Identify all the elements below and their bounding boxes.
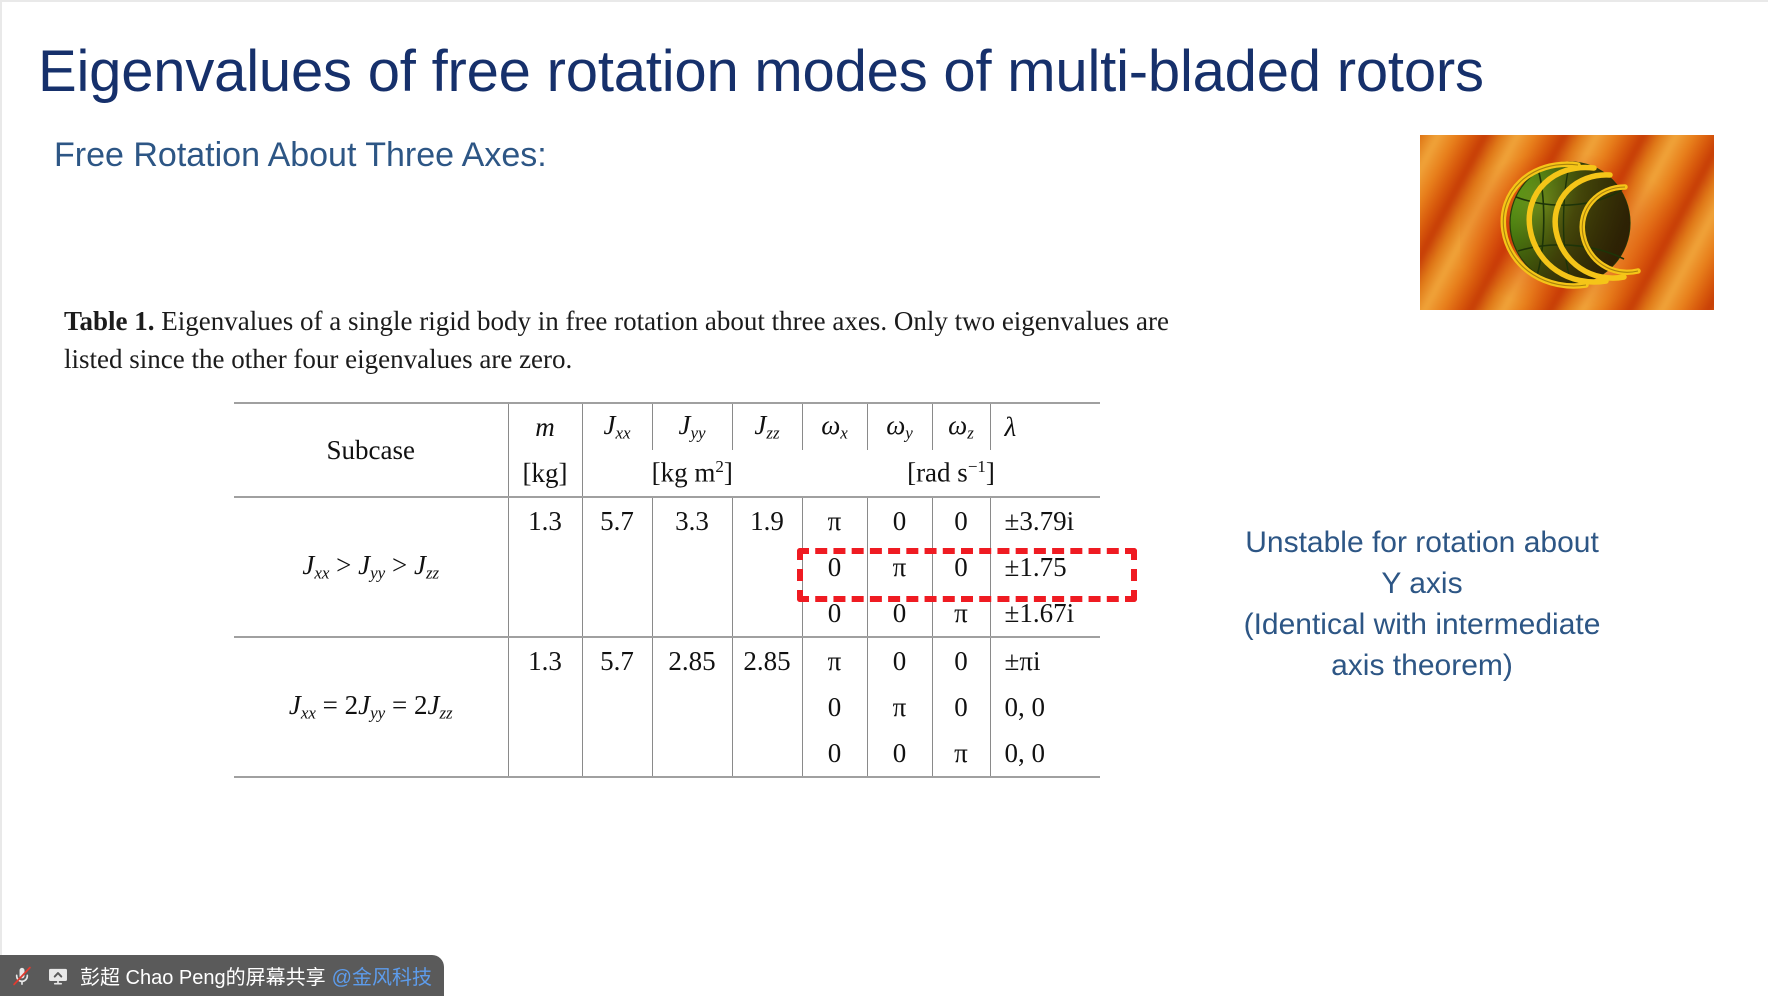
cell-lambda-1-0: ±πi <box>990 637 1100 684</box>
cell-omega-z-0-2: π <box>932 590 990 637</box>
cell-jxx-1: 5.7 <box>582 637 652 777</box>
eigenvalue-table: Subcase m Jxx Jyy Jzz ωx ωy ωz λ [kg] [k… <box>234 402 1100 780</box>
screen-share-bar[interactable]: 彭超 Chao Peng的屏幕共享 @金风科技 <box>0 955 444 996</box>
unit-inertia: [kg m2] <box>582 450 802 497</box>
cell-omega-z-1-1: 0 <box>932 684 990 730</box>
page-title: Eigenvalues of free rotation modes of mu… <box>38 36 1718 108</box>
cell-omega-y-0-2: 0 <box>867 590 932 637</box>
cell-jyy-1: 2.85 <box>652 637 732 777</box>
cell-jxx-0: 5.7 <box>582 497 652 637</box>
cell-omega-x-1-2: 0 <box>802 730 867 777</box>
screen-share-title: 彭超 Chao Peng的屏幕共享 <box>80 961 326 990</box>
col-header-omega-z: ωz <box>932 403 990 450</box>
cell-omega-x-0-1: 0 <box>802 544 867 590</box>
cell-omega-x-1-0: π <box>802 637 867 684</box>
table-row: Jxx > Jyy > Jzz 1.3 5.7 3.3 1.9 π 0 0 ±3… <box>234 497 1100 544</box>
screen-share-org: @金风科技 <box>332 961 432 990</box>
cell-omega-x-0-0: π <box>802 497 867 544</box>
cell-jzz-0: 1.9 <box>732 497 802 637</box>
col-header-omega-y: ωy <box>867 403 932 450</box>
annotation-note: Unstable for rotation about Y axis (Iden… <box>1192 522 1652 686</box>
col-header-jzz: Jzz <box>732 403 802 450</box>
cell-omega-z-1-2: π <box>932 730 990 777</box>
cell-omega-y-0-0: 0 <box>867 497 932 544</box>
subcase-label-1: Jxx = 2Jyy = 2Jzz <box>234 637 508 777</box>
col-header-omega-x: ωx <box>802 403 867 450</box>
cell-omega-y-1-2: 0 <box>867 730 932 777</box>
table-caption: Table 1. Eigenvalues of a single rigid b… <box>64 302 1194 378</box>
cell-lambda-1-2: 0, 0 <box>990 730 1100 777</box>
section-subtitle: Free Rotation About Three Axes: <box>54 133 547 177</box>
col-header-mass: m <box>508 403 582 450</box>
cell-omega-z-0-1: 0 <box>932 544 990 590</box>
cell-lambda-0-1: ±1.75 <box>990 544 1100 590</box>
cell-omega-y-1-0: 0 <box>867 637 932 684</box>
cell-lambda-0-0: ±3.79i <box>990 497 1100 544</box>
col-header-lambda: λ <box>990 403 1100 450</box>
subcase-label-0: Jxx > Jyy > Jzz <box>234 497 508 637</box>
table-row: Jxx = 2Jyy = 2Jzz 1.3 5.7 2.85 2.85 π 0 … <box>234 637 1100 684</box>
cell-omega-y-0-1: π <box>867 544 932 590</box>
cell-mass-1: 1.3 <box>508 637 582 777</box>
table-header-row: Subcase m Jxx Jyy Jzz ωx ωy ωz λ <box>234 403 1100 450</box>
screen-share-icon[interactable] <box>44 962 72 990</box>
caption-label: Table 1. <box>64 306 155 336</box>
cell-jzz-1: 2.85 <box>732 637 802 777</box>
cell-omega-z-0-0: 0 <box>932 497 990 544</box>
cell-omega-y-1-1: π <box>867 684 932 730</box>
col-header-jxx: Jxx <box>582 403 652 450</box>
annotation-line-2: Y axis <box>1192 563 1652 604</box>
annotation-line-4: axis theorem) <box>1192 645 1652 686</box>
cell-omega-x-0-2: 0 <box>802 590 867 637</box>
spinning-volleyball-image <box>1420 135 1714 310</box>
cell-jyy-0: 3.3 <box>652 497 732 637</box>
unit-omega: [rad s−1] <box>802 450 1100 497</box>
col-header-jyy: Jyy <box>652 403 732 450</box>
table-bottom-rule-row <box>234 777 1100 780</box>
cell-omega-x-1-1: 0 <box>802 684 867 730</box>
cell-mass-0: 1.3 <box>508 497 582 637</box>
cell-lambda-0-2: ±1.67i <box>990 590 1100 637</box>
cell-lambda-1-1: 0, 0 <box>990 684 1100 730</box>
mic-muted-icon[interactable] <box>8 962 36 990</box>
slide-canvas: Eigenvalues of free rotation modes of mu… <box>0 0 1768 996</box>
col-header-subcase: Subcase <box>234 403 508 497</box>
volleyball-graphic <box>1420 135 1714 310</box>
annotation-line-3: (Identical with intermediate <box>1192 604 1652 645</box>
cell-omega-z-1-0: 0 <box>932 637 990 684</box>
caption-text: Eigenvalues of a single rigid body in fr… <box>64 306 1169 374</box>
annotation-line-1: Unstable for rotation about <box>1192 522 1652 563</box>
unit-mass: [kg] <box>508 450 582 497</box>
